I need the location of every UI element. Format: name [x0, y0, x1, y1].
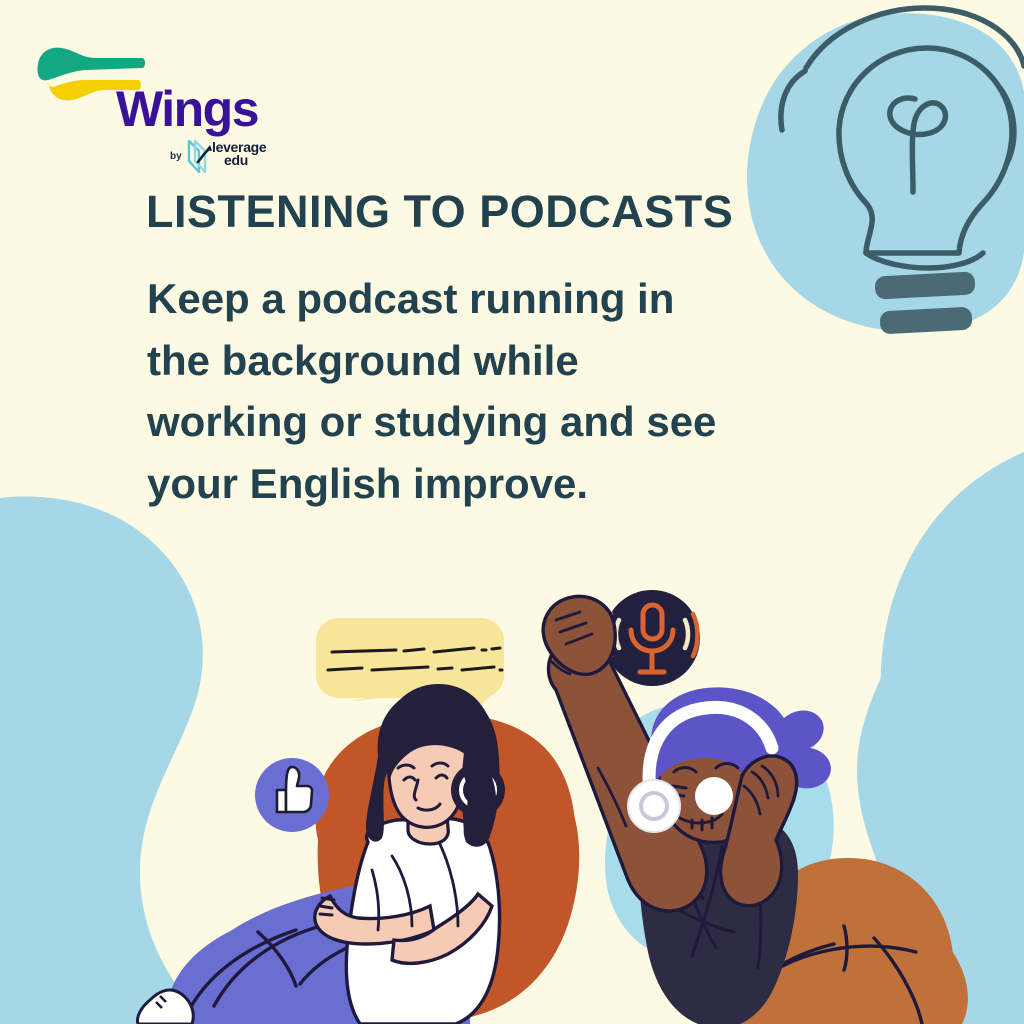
podcast-microphone-icon[interactable]	[604, 590, 700, 686]
thumbs-up-icon[interactable]	[255, 758, 329, 832]
person-man-cheering	[543, 596, 968, 1024]
man-bubble	[695, 777, 733, 815]
woman-shoe	[138, 990, 194, 1024]
podcast-illustration	[0, 0, 1024, 1024]
man-headphone-cup	[628, 780, 680, 832]
poster-canvas: Wings by leverage edu LISTENING TO PODCA…	[0, 0, 1024, 1024]
